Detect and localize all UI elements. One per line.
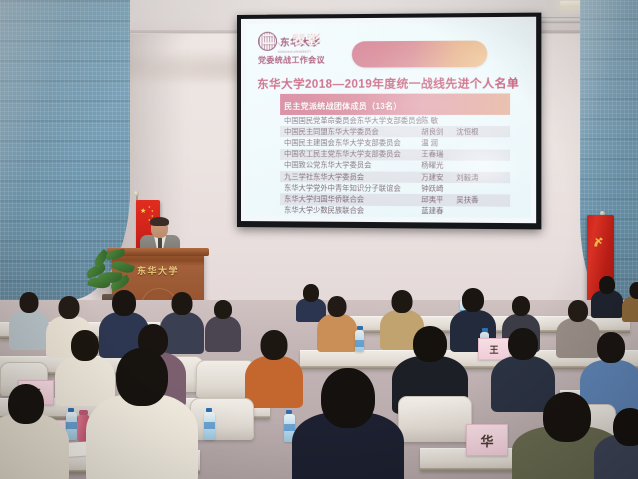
slide-table-body: 中国国民党革命委员会东华大学支部委员会陈 敏中国民主同盟东华大学委员会胡良剑沈恒…	[280, 115, 510, 218]
slide-row-name-1: 胡良剑	[421, 127, 456, 137]
chair-back	[190, 398, 254, 440]
slide-row-name-2: 吴扶香	[456, 195, 491, 205]
attendee-head	[59, 296, 80, 319]
slide-table-row: 中国民主建国会东华大学支部委员会温 润	[280, 137, 510, 149]
attendee-head	[116, 348, 168, 406]
attendee-body	[622, 296, 638, 322]
attendee-head	[214, 300, 232, 319]
attendee-head	[568, 300, 588, 322]
attendee-head	[597, 332, 625, 363]
bottle-label	[66, 422, 77, 429]
attendee-head	[321, 368, 375, 428]
projection-screen: 东华大学 DONGHUA UNIVERSITY 党委统战工作会议 二、表彰 东华…	[237, 13, 541, 230]
screen-surface: 东华大学 DONGHUA UNIVERSITY 党委统战工作会议 二、表彰 东华…	[241, 17, 536, 224]
slide-row-name-2: 沈恒根	[456, 127, 491, 137]
attendee-head	[8, 384, 44, 424]
thermos-cap	[79, 410, 88, 415]
attendee-head	[413, 326, 447, 362]
slide-row-organization: 中国致公党东华大学委员会	[284, 160, 421, 171]
attendee-foreground	[96, 348, 188, 479]
attendee-head	[112, 290, 136, 316]
slide-title: 东华大学2018—2019年度统一战线先进个人名单	[246, 75, 531, 92]
bottle-label	[355, 340, 364, 347]
bottle-cap	[482, 328, 488, 332]
slide-table-row: 东华大学归国华侨联合会邱夷平吴扶香	[280, 194, 510, 207]
flag-star-large: ★	[140, 208, 146, 215]
slide-table-row: 东华大学党外中青年知识分子联谊会钟跃崎	[280, 182, 510, 194]
attendee-head	[303, 284, 319, 302]
slide-row-name-1: 邱夷平	[421, 195, 456, 205]
hammer-and-sickle-icon	[592, 235, 606, 251]
attendee-head	[599, 276, 615, 294]
attendee-body	[0, 414, 69, 479]
bottle-cap	[206, 408, 212, 412]
name-placard: 华	[466, 424, 508, 456]
flag-star-small: ★	[151, 210, 154, 213]
bottle-label	[284, 424, 295, 431]
speaker-hair	[150, 217, 169, 226]
presentation-slide: 东华大学 DONGHUA UNIVERSITY 党委统战工作会议 二、表彰 东华…	[246, 22, 531, 218]
attendee-head	[71, 330, 99, 361]
attendee	[318, 296, 356, 350]
slide-row-name-2: 刘毅涛	[456, 172, 491, 182]
bottle-cap	[357, 326, 363, 330]
slide-row-organization: 中国农工民主党东华大学支部委员会	[284, 149, 421, 159]
slide-row-organization: 上海市欧美同学会东华大学分会	[284, 217, 421, 218]
slide-table-header-label: 民主党派统战团体成员（13名）	[284, 101, 402, 110]
attendee-body	[245, 356, 303, 408]
slide-row-organization: 九三学社东华大学委员会	[284, 172, 421, 183]
attendee-head	[392, 290, 413, 313]
attendee	[622, 282, 638, 320]
slide-table-row: 中国民主同盟东华大学委员会胡良剑沈恒根	[280, 126, 510, 138]
slide-table-row: 中国致公党东华大学委员会杨曜光	[280, 160, 510, 172]
attendee-head	[512, 296, 530, 316]
attendee	[248, 330, 300, 406]
slide-row-organization: 中国民主建国会东华大学支部委员会	[284, 138, 421, 148]
attendee-body	[86, 394, 198, 479]
slide-row-name-1: 万建安	[421, 172, 456, 182]
slide-table-header: 民主党派统战团体成员（13名）	[280, 93, 510, 115]
national-flag-knob	[134, 191, 139, 196]
attendee	[206, 300, 240, 350]
water-bottle	[204, 412, 215, 440]
attendee-body	[317, 314, 357, 352]
placard-text: 华	[480, 431, 493, 450]
conference-hall-photo: 东华大学 DONGHUA UNIVERSITY 党委统战工作会议 二、表彰 东华…	[0, 0, 638, 479]
attendee-foreground	[300, 368, 396, 479]
attendee-head	[543, 392, 591, 442]
bottle-label	[204, 422, 215, 429]
slide-meeting-name: 党委统战工作会议	[258, 54, 341, 65]
slide-row-name-1: 陈 敏	[421, 116, 456, 126]
slide-row-name-1: 王春瑞	[421, 150, 456, 160]
attendee-body	[9, 310, 49, 350]
slide-row-name-1: 温 润	[421, 138, 456, 148]
attendee-foreground	[0, 384, 62, 479]
attendee-head	[328, 296, 347, 317]
slide-row-name-1: 蓝建春	[421, 206, 456, 216]
slide-row-organization: 东华大学党外中青年知识分子联谊会	[284, 183, 421, 194]
attendee-foreground	[600, 408, 638, 479]
attendee-head	[508, 328, 538, 360]
slide-table-row: 中国国民党革命委员会东华大学支部委员会陈 敏	[280, 115, 510, 126]
plant-leaf	[105, 249, 125, 261]
slide-row-organization: 中国国民党革命委员会东华大学支部委员会	[284, 116, 421, 126]
slide-row-organization: 东华大学归国华侨联合会	[284, 194, 421, 205]
bottle-cap	[286, 410, 292, 414]
attendee-head	[172, 292, 193, 315]
attendee-head	[613, 408, 638, 446]
slide-table-row: 中国农工民主党东华大学支部委员会王春瑞	[280, 149, 510, 161]
attendee-head	[462, 288, 484, 312]
attendee-body	[205, 316, 241, 352]
slide-section-banner	[352, 41, 487, 68]
slide-university-name-en: DONGHUA UNIVERSITY	[258, 50, 341, 53]
slide-table: 民主党派统战团体成员（13名） 中国国民党革命委员会东华大学支部委员会陈 敏中国…	[280, 93, 510, 218]
water-bottle	[355, 330, 364, 352]
slide-row-name-1: 钟跃崎	[421, 184, 456, 194]
slide-row-name-1: 杨曜光	[421, 161, 456, 171]
slide-row-organization: 中国民主同盟东华大学委员会	[284, 127, 421, 137]
attendee-head	[261, 330, 288, 360]
attendee	[10, 292, 48, 348]
attendee-head	[630, 282, 638, 299]
slide-table-row: 九三学社东华大学委员会万建安刘毅涛	[280, 171, 510, 183]
slide-row-organization: 东华大学少数民族联合会	[284, 205, 421, 216]
slide-section-label: 二、表彰	[262, 28, 322, 47]
bottle-cap	[68, 408, 74, 412]
chair-back	[398, 396, 472, 442]
attendee-head	[20, 292, 39, 313]
